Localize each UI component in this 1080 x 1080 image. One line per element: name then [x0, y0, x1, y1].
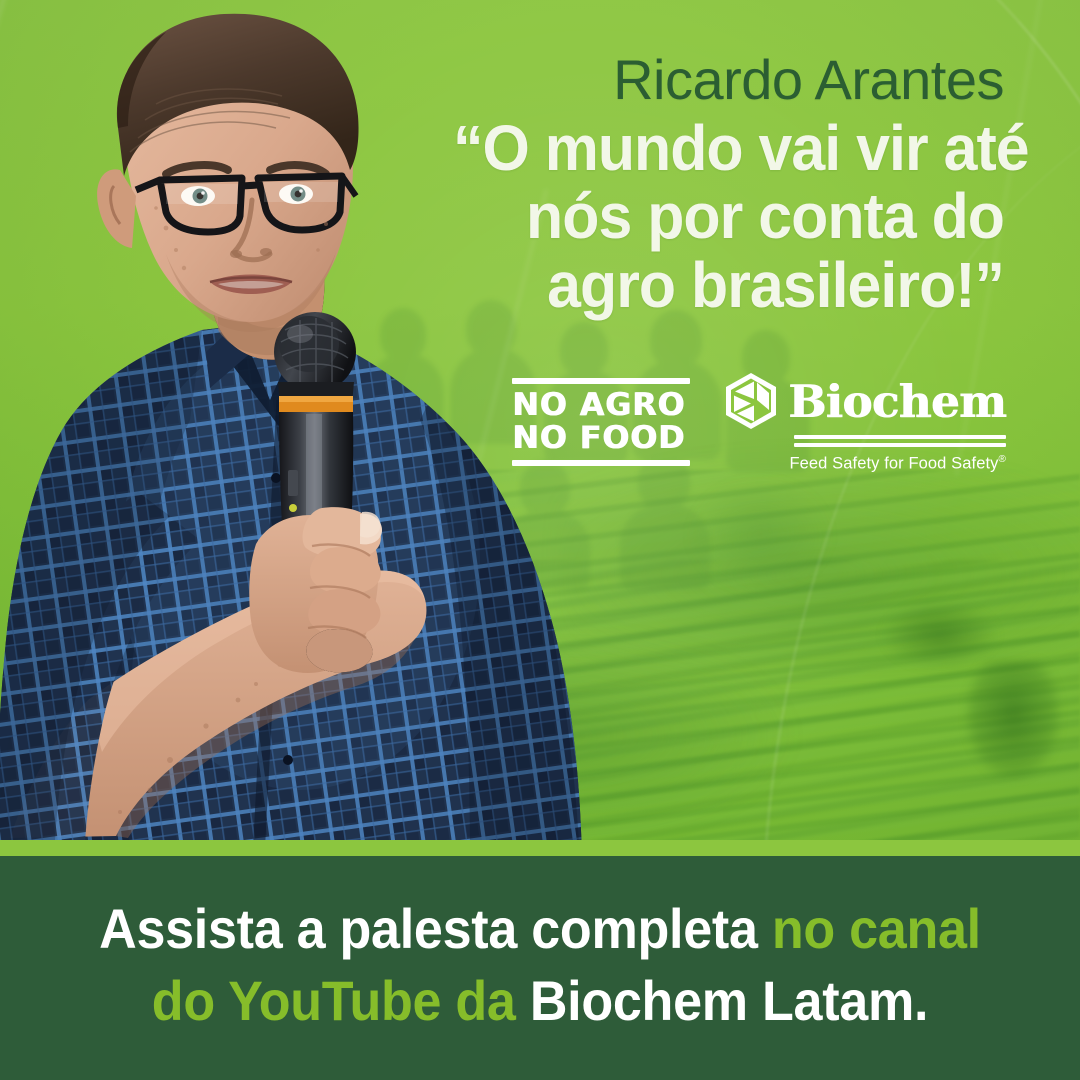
no-agro-rule-bottom: [512, 460, 690, 466]
quote-line-3: agro brasileiro!”: [453, 251, 1004, 319]
logo-row: NO AGRO NO FOOD Biochem Feed Saf: [512, 372, 1006, 474]
accent-stripe: [0, 840, 1080, 856]
biochem-tagline: Feed Safety for Food Safety®: [789, 454, 1006, 474]
no-agro-no-food-logo: NO AGRO NO FOOD: [512, 372, 690, 466]
no-agro-rule-top: [512, 378, 690, 384]
biochem-rule-top: [794, 435, 1006, 439]
call-to-action-banner: Assista a palesta completa no canal do Y…: [0, 856, 1080, 1080]
speaker-name: Ricardo Arantes: [424, 52, 1004, 108]
no-agro-line-2: NO FOOD: [512, 422, 694, 455]
quote-line-2: nós por conta do: [453, 182, 1004, 250]
cta-line-1: Assista a palesta completa no canal: [75, 893, 1005, 965]
biochem-logo-main: Biochem: [724, 372, 1006, 430]
biochem-logo: Biochem Feed Safety for Food Safety®: [724, 372, 1006, 474]
cta-line-2: do YouTube da Biochem Latam.: [75, 965, 1005, 1037]
biochem-wordmark: Biochem: [788, 379, 1006, 424]
social-media-poster: Ricardo Arantes “O mundo vai vir até nós…: [0, 0, 1080, 1080]
cta-line-1-highlight: no canal: [772, 897, 981, 960]
biochem-hexagon-icon: [724, 372, 778, 430]
biochem-rules: [794, 435, 1006, 447]
cta-line-1-plain: Assista a palesta completa: [99, 897, 772, 960]
biochem-rule-bottom: [794, 443, 1006, 447]
registered-mark: ®: [999, 454, 1006, 465]
quote-block: Ricardo Arantes “O mundo vai vir até nós…: [424, 52, 1004, 319]
call-to-action-text: Assista a palesta completa no canal do Y…: [38, 893, 1042, 1036]
quote-line-1: “O mundo vai vir até: [453, 114, 1004, 182]
biochem-tagline-text: Feed Safety for Food Safety: [789, 455, 998, 473]
no-agro-line-1: NO AGRO: [512, 389, 694, 422]
quote-text: “O mundo vai vir até nós por conta do ag…: [453, 114, 1004, 319]
cta-line-2-plain: Biochem Latam.: [530, 969, 928, 1032]
cta-line-2-highlight: do YouTube da: [152, 969, 530, 1032]
